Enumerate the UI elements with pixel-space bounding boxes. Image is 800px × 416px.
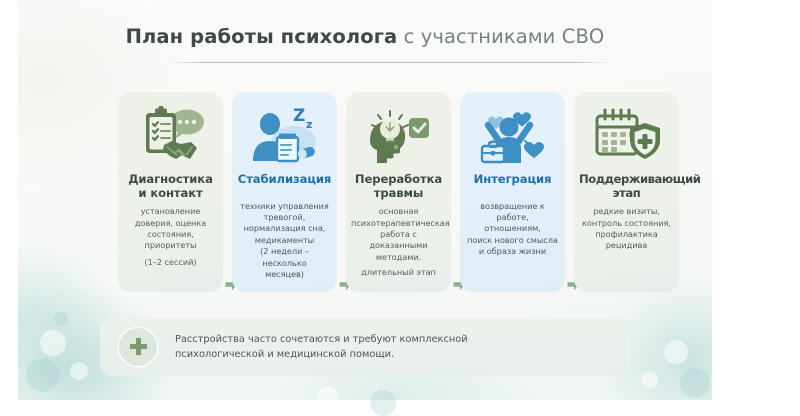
stage-card-stabilization[interactable]: Z z	[232, 92, 337, 292]
bokeh-dot	[54, 312, 68, 326]
svg-text:Z: Z	[293, 106, 305, 126]
page-title: План работы психолога с участниками СВО	[18, 25, 712, 48]
footer-text: Расстройства часто сочетаются и требуют …	[175, 332, 468, 363]
stage-3-icon-group	[351, 100, 446, 172]
stage-2-title: Стабилизация	[237, 173, 332, 187]
stages-row: Диагностика и контакт установление довер…	[18, 92, 712, 292]
stage-card-integration[interactable]: Интеграция возвращение к работе, отношен…	[460, 92, 565, 292]
bokeh-dot	[642, 372, 658, 388]
stage-4-body: возвращение к работе, отношениям, поиск …	[465, 201, 560, 258]
page-title-bold: План работы психолога	[126, 25, 398, 48]
stage-1-title: Диагностика и контакт	[123, 173, 218, 200]
stage-1-icon-group	[123, 100, 218, 172]
stage-2-icon-group: Z z	[237, 100, 332, 172]
bokeh-dot	[664, 340, 688, 364]
stage-4-icon-group	[465, 100, 560, 172]
medical-cross-icon	[119, 328, 157, 366]
heart-icon	[523, 142, 543, 158]
background-panel: План работы психолога с участниками СВО	[18, 0, 712, 400]
calendar-icon	[591, 106, 663, 166]
dot-icon	[393, 145, 398, 150]
bokeh-dot	[318, 386, 338, 406]
stage-2-body: техники управления тревогой, нормализаци…	[237, 201, 332, 281]
medication-bottle-icon	[277, 134, 298, 162]
page-title-light: с участниками СВО	[397, 25, 604, 48]
head-profile-icon	[363, 105, 435, 167]
briefcase-icon	[482, 142, 504, 162]
clipboard-check-icon	[134, 105, 208, 167]
stage-5-icon-group	[579, 100, 674, 172]
stage-card-trauma-processing[interactable]: Переработка травмы основная психотерапев…	[346, 92, 451, 292]
bokeh-dot	[26, 358, 60, 392]
infographic-canvas: План работы психолога с участниками СВО	[0, 0, 800, 400]
bokeh-dot	[370, 390, 396, 416]
handshake-icon	[163, 141, 197, 159]
bokeh-dot	[40, 330, 66, 356]
title-divider	[168, 62, 612, 63]
bokeh-dot	[70, 362, 88, 380]
stage-4-title: Интеграция	[465, 173, 560, 187]
stage-3-title: Переработка травмы	[351, 173, 446, 200]
stage-1-body: установление доверия, оценка состояния, …	[123, 206, 218, 268]
checkbox-check-icon	[409, 118, 429, 138]
stage-card-maintenance[interactable]: Поддерживающий этап редкие визиты, контр…	[574, 92, 679, 292]
stage-5-body: редкие визиты, контроль состояния, профи…	[579, 206, 674, 252]
celebrating-person-icon	[476, 105, 550, 167]
person-icon: Z z	[247, 105, 323, 167]
footer-note: Расстройства часто сочетаются и требуют …	[100, 318, 630, 376]
bokeh-dot	[680, 368, 710, 398]
stage-5-title: Поддерживающий этап	[579, 173, 674, 200]
stage-3-body: основная психотерапевтическая работа с д…	[351, 206, 446, 278]
stage-card-diagnostics[interactable]: Диагностика и контакт установление довер…	[118, 92, 223, 292]
